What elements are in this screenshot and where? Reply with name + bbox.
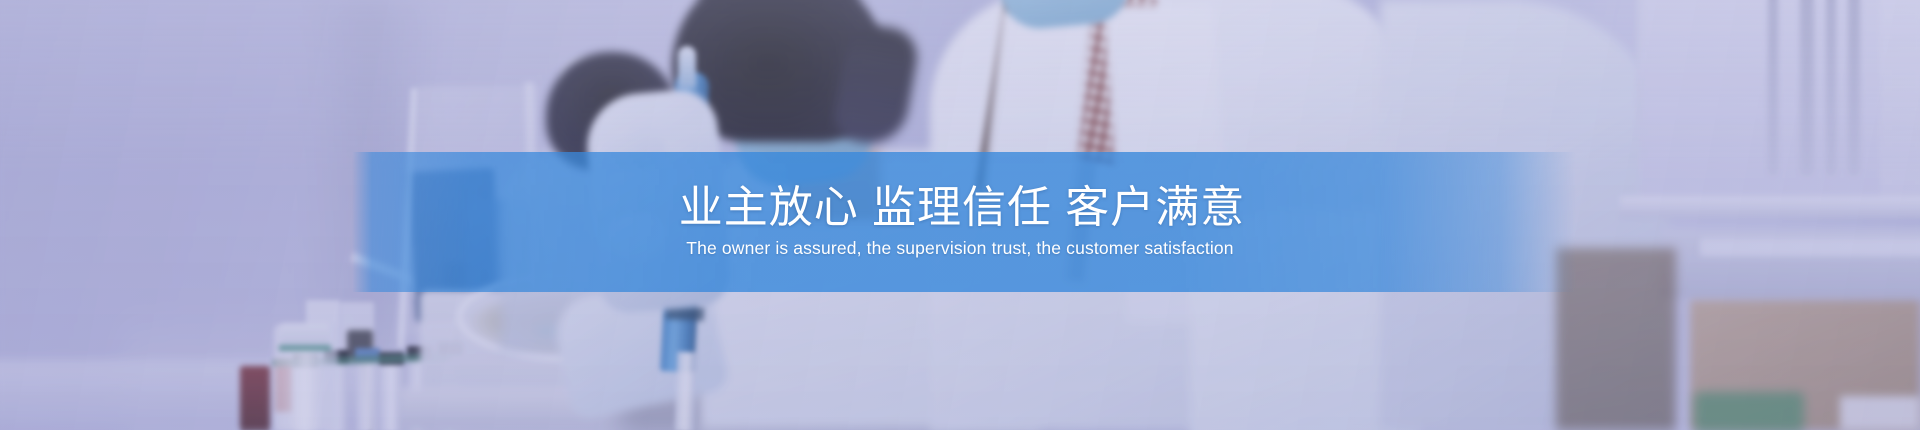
- slogan-subtitle-english: The owner is assured, the supervision tr…: [686, 238, 1233, 259]
- slogan-headline-chinese: 业主放心 监理信任 客户满意: [675, 185, 1245, 231]
- slogan-band: 业主放心 监理信任 客户满意 The owner is assured, the…: [0, 152, 1920, 292]
- hero-banner: 业主放心 监理信任 客户满意 The owner is assured, the…: [0, 0, 1920, 430]
- slogan-content: 业主放心 监理信任 客户满意 The owner is assured, the…: [0, 152, 1920, 292]
